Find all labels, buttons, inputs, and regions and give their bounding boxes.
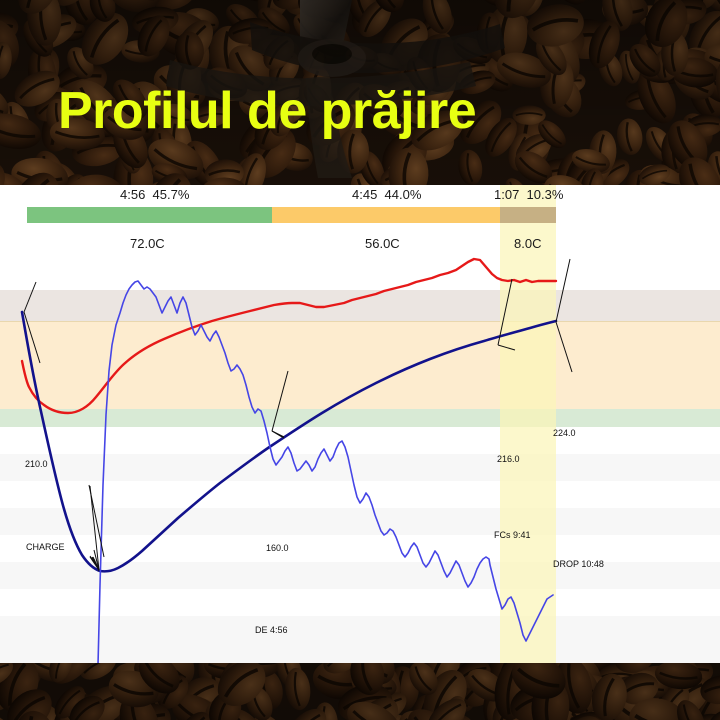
leader-160 [272, 371, 288, 431]
phase-drying-percent: 45.7% [153, 187, 190, 202]
charge-value-label: 210.0 [25, 459, 48, 469]
de-value-label: 160.0 [266, 543, 289, 553]
drop-event-label: DROP 10:48 [553, 559, 604, 569]
page-title: Profilul de prăjire [58, 82, 476, 140]
phase-maillard-percent: 44.0% [385, 187, 422, 202]
roast-chart-panel[interactable]: 4:56 45.7% 4:45 44.0% 1:07 10.3% 72.0C 5… [0, 185, 720, 663]
de-event-label: DE 4:56 [255, 625, 288, 635]
phase-development-percent: 10.3% [527, 187, 564, 202]
phase-development-time: 1:07 [494, 187, 519, 202]
leader-210 [24, 282, 36, 312]
phase-maillard-temp-rise: 56.0C [365, 236, 400, 251]
phase-maillard-stats: 4:45 44.0% [352, 187, 421, 202]
fcs-value-label: 216.0 [497, 454, 520, 464]
leader-216 [498, 279, 512, 345]
leader-de-line [272, 431, 284, 437]
phase-drying-temp-rise: 72.0C [130, 236, 165, 251]
leader-fcs [498, 345, 515, 350]
phase-drying-stats: 4:56 45.7% [120, 187, 189, 202]
leader-224 [556, 259, 570, 322]
phase-development-temp-rise: 8.0C [514, 236, 541, 251]
fcs-event-label: FCs 9:41 [494, 530, 531, 540]
phase-bar[interactable] [27, 207, 556, 223]
phase-segment-drying[interactable] [27, 207, 272, 223]
phase-segment-development[interactable] [500, 207, 556, 223]
phase-development-stats: 1:07 10.3% [494, 187, 563, 202]
phase-drying-time: 4:56 [120, 187, 145, 202]
drop-value-label: 224.0 [553, 428, 576, 438]
leader-charge [24, 312, 40, 363]
charge-event-label: CHARGE [26, 542, 65, 552]
phase-segment-maillard[interactable] [272, 207, 500, 223]
roast-profile-slide: Profilul de prăjire [0, 0, 720, 720]
leader-drop [556, 322, 572, 372]
phase-maillard-time: 4:45 [352, 187, 377, 202]
annotation-leaders [0, 185, 720, 663]
